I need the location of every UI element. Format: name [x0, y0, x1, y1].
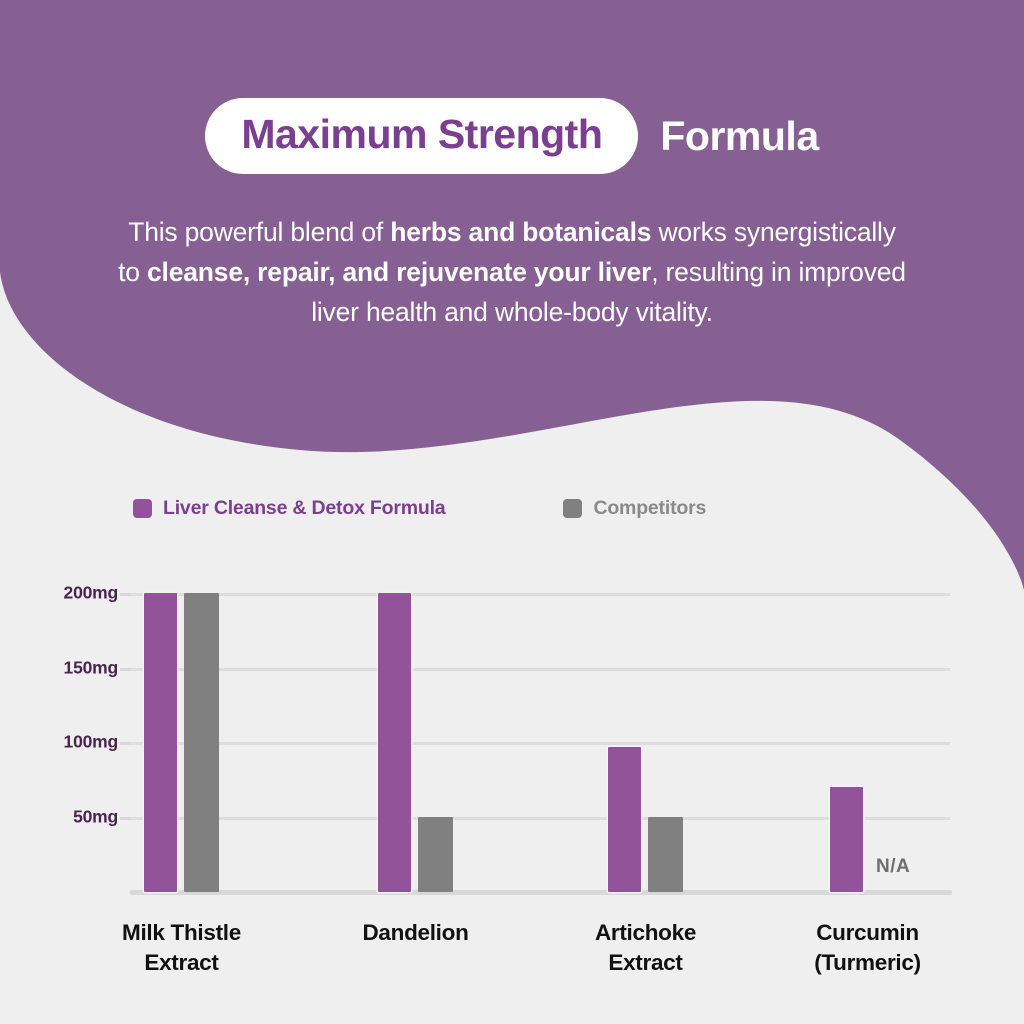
gridline	[130, 742, 950, 745]
gridline	[130, 817, 950, 820]
x-axis-label-line: Artichoke	[536, 918, 756, 948]
comparison-bar-chart: Liver Cleanse & Detox Formula Competitor…	[0, 0, 1024, 1024]
y-axis-label: 100mg	[64, 732, 118, 753]
axis-baseline	[130, 890, 952, 895]
na-label: N/A	[876, 856, 910, 878]
bar-product	[378, 593, 411, 892]
bar-competitor	[184, 593, 219, 892]
bar-product	[144, 593, 177, 892]
bar-product	[608, 747, 641, 892]
legend-label-competitors: Competitors	[593, 497, 706, 520]
x-axis-label: Curcumin(Turmeric)	[758, 918, 978, 978]
gridline	[130, 668, 950, 671]
legend-label-product: Liver Cleanse & Detox Formula	[163, 497, 445, 520]
bar-competitor	[418, 817, 453, 892]
y-axis: 50mg100mg150mg200mg	[20, 575, 118, 892]
legend-swatch-product	[133, 499, 152, 518]
legend-item-competitors: Competitors	[563, 497, 706, 520]
y-axis-label: 150mg	[64, 657, 118, 678]
bar-competitor	[648, 817, 683, 892]
x-axis-label-line: Extract	[72, 948, 292, 978]
x-axis-label-line: Curcumin	[758, 918, 978, 948]
x-axis-label: ArtichokeExtract	[536, 918, 756, 978]
bar-product	[830, 787, 863, 892]
plot-area: N/A	[130, 575, 950, 892]
x-axis-label: Dandelion	[306, 918, 526, 948]
y-axis-label: 50mg	[73, 807, 118, 828]
legend-swatch-competitors	[563, 499, 582, 518]
x-axis-label-line: Dandelion	[306, 918, 526, 948]
x-axis-label: Milk ThistleExtract	[72, 918, 292, 978]
x-axis-label-line: Milk Thistle	[72, 918, 292, 948]
chart-legend: Liver Cleanse & Detox Formula Competitor…	[133, 497, 706, 520]
x-axis-label-line: Extract	[536, 948, 756, 978]
gridline	[130, 593, 950, 596]
legend-item-product: Liver Cleanse & Detox Formula	[133, 497, 445, 520]
y-axis-label: 200mg	[64, 582, 118, 603]
x-axis-label-line: (Turmeric)	[758, 948, 978, 978]
